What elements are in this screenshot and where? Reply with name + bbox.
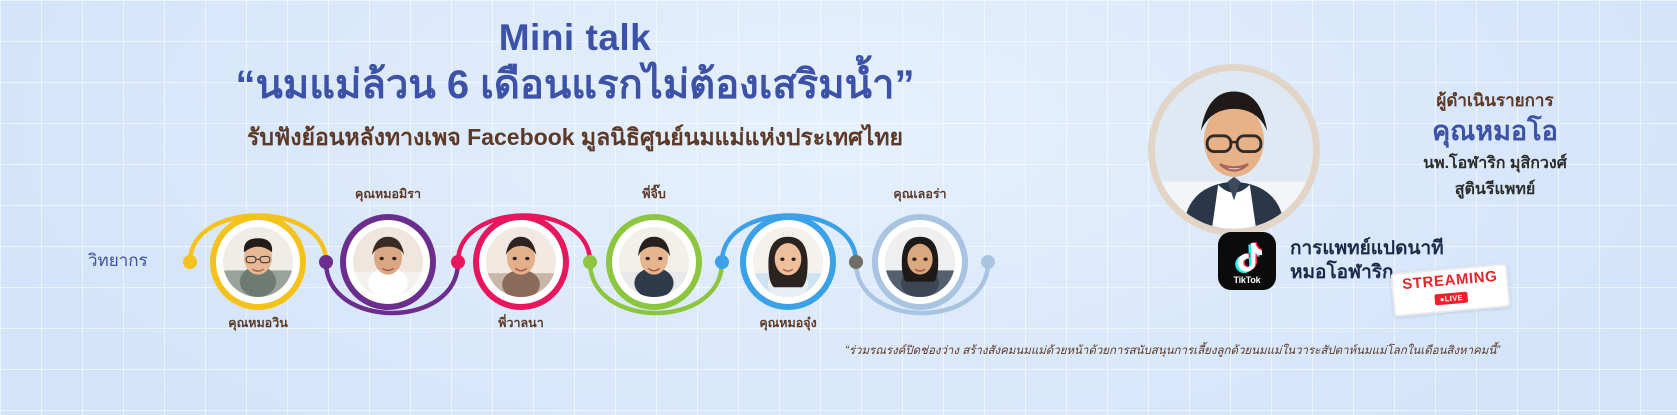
speaker-photo-5 — [753, 227, 823, 297]
speaker-avatar-4[interactable] — [606, 214, 702, 310]
speaker-avatar-5[interactable] — [740, 214, 836, 310]
portrait-host — [1155, 71, 1313, 229]
host-avatar[interactable] — [1148, 64, 1320, 236]
live-badge: ●LIVE — [1434, 292, 1468, 306]
headline-subtitle: รับฟังย้อนหลังทางเพจ Facebook มูลนิธิศูน… — [0, 124, 1150, 152]
speaker-name-2: คุณหมอมิรา — [355, 184, 421, 204]
channel-line-1: การแพทย์แปดนาที — [1290, 237, 1444, 261]
speaker-name-4: พี่จิ๊บ — [642, 184, 666, 204]
speaker-photo-6 — [885, 227, 955, 297]
footer-note: “ร่วมรณรงค์ปิดช่องว่าง สร้างสังคมนมแม่ด้… — [845, 342, 1665, 360]
speaker-avatar-6[interactable] — [872, 214, 968, 310]
host-full-name: นพ.โอฬาริก มุสิกวงศ์ — [1335, 153, 1655, 175]
speaker-name-3: พี่วาลนา — [498, 313, 544, 333]
speaker-name-5: คุณหมอจุ๋ง — [759, 313, 816, 333]
speakers-timeline: คุณหมอวิน คุณหมอมิรา — [0, 180, 1060, 350]
portrait-male-young — [223, 227, 293, 297]
host-role-label: ผู้ดำเนินรายการ — [1335, 90, 1655, 111]
speaker-photo-1 — [223, 227, 293, 297]
portrait-female-dark — [885, 227, 955, 297]
portrait-female-senior — [353, 227, 423, 297]
host-name: คุณหมอโอ — [1335, 114, 1655, 149]
poster-canvas: Mini talk “นมแม่ล้วน 6 เดือนแรกไม่ต้องเส… — [0, 0, 1677, 415]
tiktok-icon[interactable]: TikTok — [1218, 232, 1276, 290]
speaker-name-1: คุณหมอวิน — [228, 313, 288, 333]
host-photo — [1155, 71, 1313, 229]
portrait-female-long — [753, 227, 823, 297]
speaker-photo-2 — [353, 227, 423, 297]
page-title: Mini talk — [0, 18, 1150, 58]
speaker-avatar-1[interactable] — [210, 214, 306, 310]
portrait-female-mid — [486, 227, 556, 297]
speaker-photo-3 — [486, 227, 556, 297]
host-block: ผู้ดำเนินรายการ คุณหมอโอ นพ.โอฬาริก มุสิ… — [1130, 50, 1670, 370]
speaker-avatar-3[interactable] — [473, 214, 569, 310]
speaker-name-6: คุณเลอร่า — [893, 184, 946, 204]
speaker-photo-4 — [619, 227, 689, 297]
portrait-female-short — [619, 227, 689, 297]
host-specialty: สูตินรีแพทย์ — [1335, 179, 1655, 201]
streaming-label: STREAMING — [1402, 269, 1498, 292]
headline-block: Mini talk “นมแม่ล้วน 6 เดือนแรกไม่ต้องเส… — [0, 18, 1150, 152]
tiktok-label: TikTok — [1234, 275, 1261, 285]
headline-quote: “นมแม่ล้วน 6 เดือนแรกไม่ต้องเสริมน้ำ” — [0, 60, 1150, 110]
tiktok-note-icon — [1232, 241, 1262, 273]
speaker-avatar-2[interactable] — [340, 214, 436, 310]
host-info: ผู้ดำเนินรายการ คุณหมอโอ นพ.โอฬาริก มุสิ… — [1335, 90, 1655, 201]
